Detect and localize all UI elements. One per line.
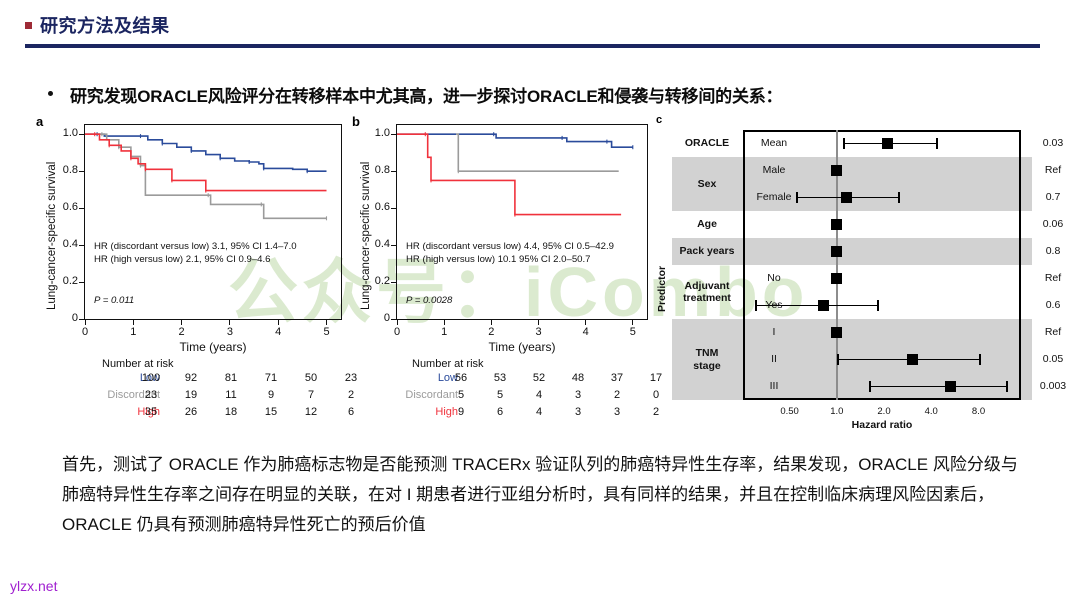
risk-value: 3 (565, 406, 591, 418)
risk-value: 12 (298, 406, 324, 418)
ytick: 0 (362, 312, 390, 324)
xtick: 5 (319, 326, 335, 338)
forest-pvalue: 0.8 (1032, 245, 1074, 257)
risk-row: Discordant231911972 (32, 389, 378, 406)
forest-xlabel: Hazard ratio (743, 419, 1021, 431)
forest-xtick: 0.50 (777, 406, 803, 417)
forest-marker (818, 300, 829, 311)
km-a-hr-annotations: HR (discordant versus low) 3.1, 95% CI 1… (94, 240, 297, 266)
header-divider (25, 44, 1040, 48)
bullet-dot-icon (48, 91, 53, 96)
risk-value: 18 (218, 406, 244, 418)
risk-value: 26 (178, 406, 204, 418)
bullet-text: 研究发现ORACLE风险评分在转移样本中尤其高，进一步探讨ORACLE和侵袭与转… (70, 82, 782, 107)
km-a-plot (84, 124, 342, 320)
hr-annotation: HR (high versus low) 10.1 95% CI 2.0–50.… (406, 253, 614, 266)
forest-ci-cap (898, 192, 900, 203)
xtick: 4 (578, 326, 594, 338)
risk-value: 4 (526, 406, 552, 418)
forest-marker (831, 327, 842, 338)
km-a-risk-title: Number at risk (102, 358, 174, 370)
forest-pvalue: 0.7 (1032, 191, 1074, 203)
risk-value: 53 (487, 372, 513, 384)
xtick: 0 (77, 326, 93, 338)
risk-value: 48 (565, 372, 591, 384)
risk-value: 15 (258, 406, 284, 418)
forest-group-label: Sex (672, 178, 742, 191)
forest-xtick: 4.0 (918, 406, 944, 417)
ytick: 1.0 (50, 127, 78, 139)
ytick: 0.2 (362, 275, 390, 287)
hr-annotation: HR (discordant versus low) 4.4, 95% CI 0… (406, 240, 614, 253)
forest-marker (907, 354, 918, 365)
forest-pvalue: Ref (1032, 326, 1074, 338)
risk-value: 7 (298, 389, 324, 401)
ytick: 0.6 (362, 201, 390, 213)
km-b-ylabel: Lung-cancer-specific survival (360, 162, 372, 310)
km-b-pvalue: P = 0.0028 (406, 295, 452, 306)
ytick: 0.4 (50, 238, 78, 250)
risk-value: 6 (487, 406, 513, 418)
body-paragraph: 首先，测试了 ORACLE 作为肺癌标志物是否能预测 TRACERx 验证队列的… (62, 450, 1027, 540)
panel-letter-b: b (352, 114, 360, 129)
risk-value: 2 (604, 389, 630, 401)
km-b-curves (397, 125, 647, 319)
forest-level-label: Female (748, 191, 800, 203)
risk-value: 5 (487, 389, 513, 401)
forest-marker (831, 273, 842, 284)
xtick: 0 (389, 326, 405, 338)
km-panel-b: b Lung-cancer-specific survival 00.20.40… (348, 112, 658, 437)
hr-annotation: HR (discordant versus low) 3.1, 95% CI 1… (94, 240, 297, 253)
xtick: 3 (222, 326, 238, 338)
forest-ci-line (869, 386, 1006, 388)
forest-pvalue: 0.6 (1032, 299, 1074, 311)
forest-level-label: III (748, 380, 800, 392)
forest-ci-cap (869, 381, 871, 392)
xtick: 2 (483, 326, 499, 338)
risk-value: 11 (218, 389, 244, 401)
risk-value: 56 (448, 372, 474, 384)
forest-level-label: Male (748, 164, 800, 176)
forest-ci-cap (979, 354, 981, 365)
forest-level-label: II (748, 353, 800, 365)
xtick: 3 (531, 326, 547, 338)
risk-value: 52 (526, 372, 552, 384)
km-b-hr-annotations: HR (discordant versus low) 4.4, 95% CI 0… (406, 240, 614, 266)
forest-pvalue: 0.05 (1032, 353, 1074, 365)
risk-value: 50 (298, 372, 324, 384)
risk-row: Discordant554320 (348, 389, 682, 406)
forest-group-label: TNMstage (672, 347, 742, 372)
risk-value: 9 (258, 389, 284, 401)
xtick: 5 (625, 326, 641, 338)
page-title: 研究方法及结果 (40, 12, 170, 38)
forest-marker (831, 246, 842, 257)
ytick: 0.4 (362, 238, 390, 250)
xtick: 2 (174, 326, 190, 338)
forest-ci-cap (936, 138, 938, 149)
forest-group-label: ORACLE (672, 137, 742, 150)
risk-value: 9 (448, 406, 474, 418)
forest-xtick: 2.0 (871, 406, 897, 417)
ytick: 0.8 (362, 164, 390, 176)
risk-row: Low565352483717 (348, 372, 682, 389)
forest-level-label: Mean (748, 137, 800, 149)
forest-pvalue: Ref (1032, 164, 1074, 176)
km-b-risk-title: Number at risk (412, 358, 484, 370)
forest-group-label: Age (672, 218, 742, 231)
forest-group-label: Pack years (672, 245, 742, 258)
forest-xtick: 1.0 (824, 406, 850, 417)
risk-row: High964332 (348, 406, 682, 423)
risk-row: Low1009281715023 (32, 372, 378, 389)
ytick: 1.0 (362, 127, 390, 139)
risk-value: 5 (448, 389, 474, 401)
km-a-curves (85, 125, 341, 319)
ytick: 0.6 (50, 201, 78, 213)
hr-annotation: HR (high versus low) 2.1, 95% CI 0.9–4.6 (94, 253, 297, 266)
risk-value: 3 (565, 389, 591, 401)
xtick: 4 (270, 326, 286, 338)
risk-value: 23 (138, 389, 164, 401)
km-a-pvalue: P = 0.011 (94, 295, 134, 306)
km-b-xlabel: Time (years) (396, 340, 648, 354)
risk-value: 100 (138, 372, 164, 384)
slide-header: 研究方法及结果 (0, 0, 1080, 52)
forest-ci-cap (837, 354, 839, 365)
ytick: 0.2 (50, 275, 78, 287)
forest-ci-cap (843, 138, 845, 149)
risk-value: 92 (178, 372, 204, 384)
forest-marker (882, 138, 893, 149)
forest-marker (841, 192, 852, 203)
forest-xtick: 8.0 (966, 406, 992, 417)
watermark-site: ylzx.net (10, 578, 57, 594)
km-a-xlabel: Time (years) (84, 340, 342, 354)
xtick: 1 (436, 326, 452, 338)
risk-value: 35 (138, 406, 164, 418)
figure-area: a Lung-cancer-specific survival 00.20.40… (0, 112, 1080, 437)
ytick: 0 (50, 312, 78, 324)
forest-pvalue: 0.003 (1032, 380, 1074, 392)
panel-letter-c: c (656, 114, 662, 126)
forest-ci-cap (877, 300, 879, 311)
panel-letter-a: a (36, 114, 43, 129)
km-a-ylabel: Lung-cancer-specific survival (46, 162, 58, 310)
forest-pvalue: 0.03 (1032, 137, 1074, 149)
risk-value: 37 (604, 372, 630, 384)
bullet-row: 研究发现ORACLE风险评分在转移样本中尤其高，进一步探讨ORACLE和侵袭与转… (48, 82, 1048, 110)
forest-pvalue: 0.06 (1032, 218, 1074, 230)
ytick: 0.8 (50, 164, 78, 176)
km-b-plot (396, 124, 648, 320)
forest-plot-panel: c Predictor Mean0.03MaleRefFemale0.70.06… (650, 112, 1050, 437)
forest-pvalue: Ref (1032, 272, 1074, 284)
risk-value: 4 (526, 389, 552, 401)
risk-value: 19 (178, 389, 204, 401)
forest-marker (831, 219, 842, 230)
km-panel-a: a Lung-cancer-specific survival 00.20.40… (32, 112, 352, 437)
forest-marker (831, 165, 842, 176)
forest-group-label: Adjuvanttreatment (672, 280, 742, 305)
xtick: 1 (125, 326, 141, 338)
risk-row: High35261815126 (32, 406, 378, 423)
risk-value: 81 (218, 372, 244, 384)
header-bullet-icon (25, 22, 32, 29)
forest-level-label: No (748, 272, 800, 284)
forest-level-label: I (748, 326, 800, 338)
forest-marker (945, 381, 956, 392)
forest-level-label: Yes (748, 299, 800, 311)
forest-ylabel: Predictor (656, 266, 668, 312)
risk-value: 71 (258, 372, 284, 384)
forest-ci-cap (1006, 381, 1008, 392)
risk-value: 3 (604, 406, 630, 418)
